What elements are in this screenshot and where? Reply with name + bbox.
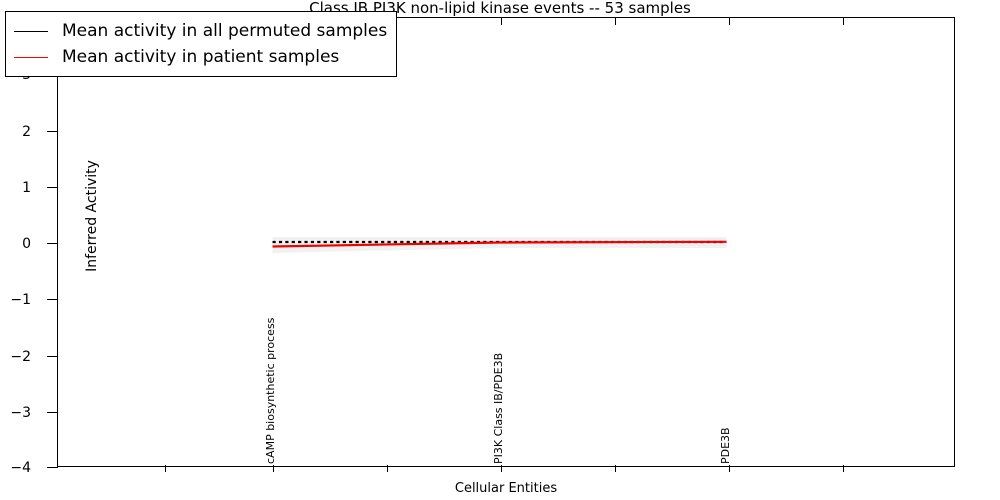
- legend-entry-patient: Mean activity in patient samples: [14, 44, 387, 70]
- x-tick-1: [165, 465, 166, 472]
- y-tick-neg2: −2: [47, 356, 58, 357]
- y-tick-0: 0: [47, 243, 58, 244]
- x-tick-3: [387, 465, 388, 472]
- y-tick-2: 2: [47, 131, 58, 132]
- legend-swatch-black-line-icon: [14, 31, 48, 32]
- y-axis-label: Inferred Activity: [84, 136, 100, 296]
- legend-label-patient: Mean activity in patient samples: [62, 47, 339, 67]
- x-tick-4: [501, 465, 502, 472]
- y-tick-label-1: 1: [22, 179, 31, 197]
- series-layer: [58, 18, 954, 466]
- y-tick-neg1: −1: [47, 299, 58, 300]
- chart-figure: Class IB PI3K non-lipid kinase events --…: [0, 0, 1000, 500]
- x-tick-5: [615, 465, 616, 472]
- x-axis-label: Cellular Entities: [57, 481, 955, 496]
- y-tick-neg3: −3: [47, 412, 58, 413]
- x-tick-6: [729, 465, 730, 472]
- x-tick-2: [273, 465, 274, 472]
- plot-area: 4 3 2 1 0 −1 −2 −3 −4: [57, 17, 955, 467]
- y-tick-label-0: 0: [22, 235, 31, 253]
- legend-label-permuted: Mean activity in all permuted samples: [62, 21, 387, 41]
- x-tick-7: [843, 465, 844, 472]
- y-tick-label-2: 2: [22, 123, 31, 141]
- series-band-permuted: [273, 237, 727, 253]
- y-tick-label-neg2: −2: [10, 348, 31, 366]
- y-tick-neg4: −4: [47, 467, 58, 468]
- y-tick-label-neg3: −3: [10, 404, 31, 422]
- y-tick-label-neg4: −4: [10, 459, 31, 477]
- legend-entry-permuted: Mean activity in all permuted samples: [14, 18, 387, 44]
- legend-swatch-red-line-icon: [14, 57, 48, 58]
- y-tick-label-neg1: −1: [10, 291, 31, 309]
- chart-legend: Mean activity in all permuted samples Me…: [5, 11, 397, 77]
- y-tick-1: 1: [47, 187, 58, 188]
